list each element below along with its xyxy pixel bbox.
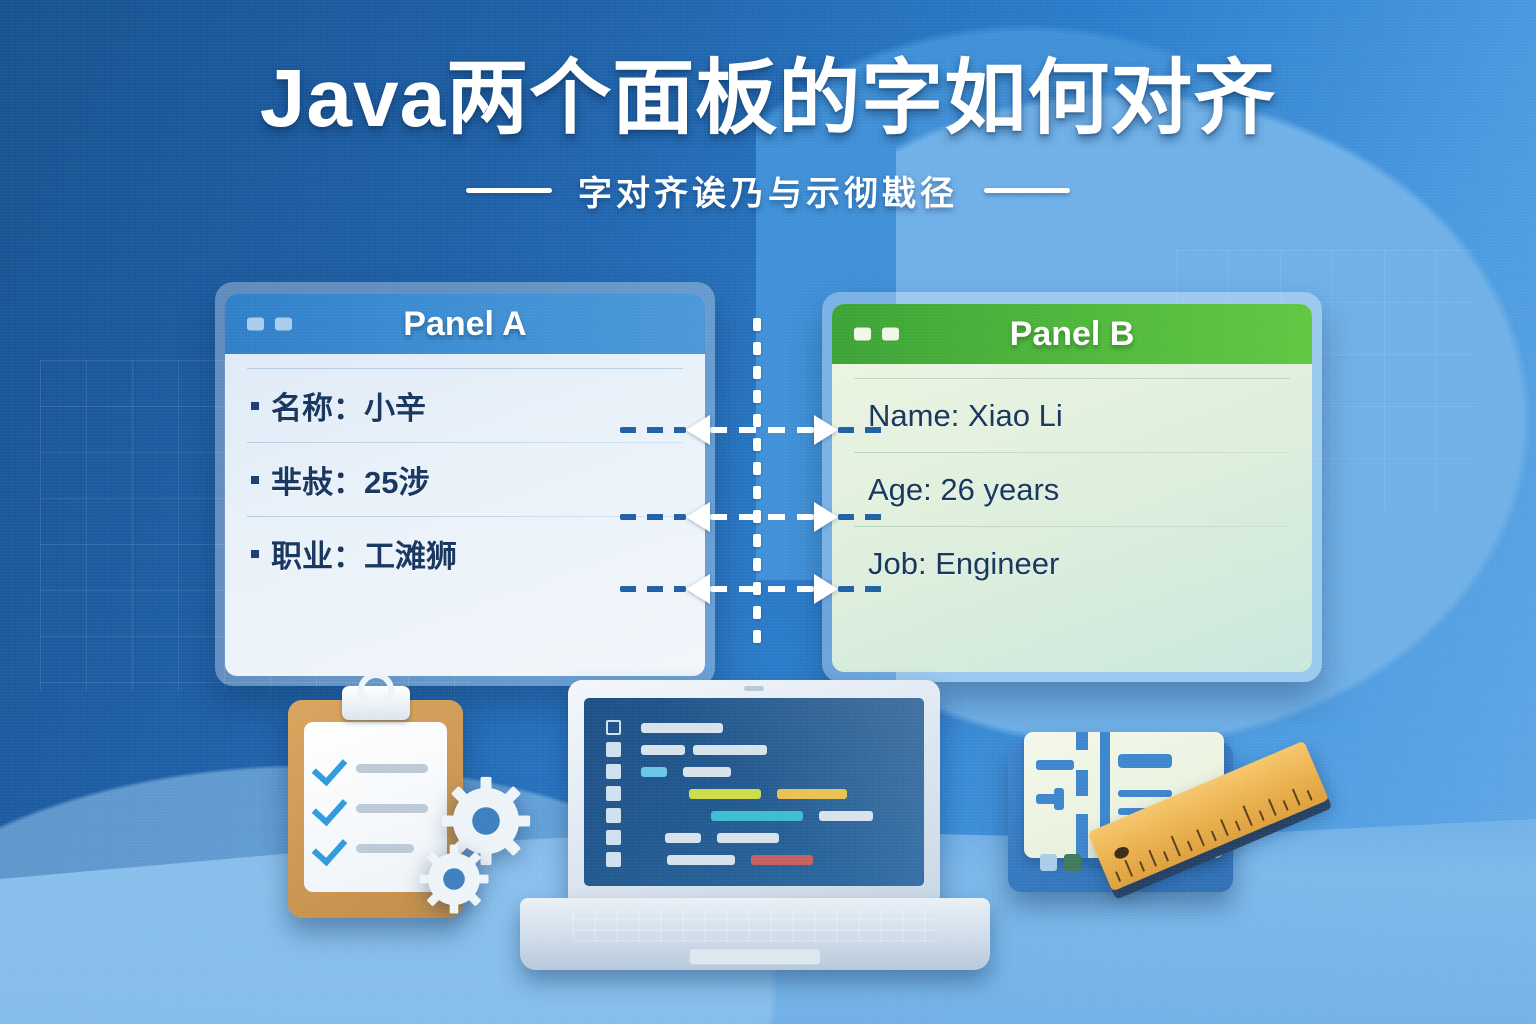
connector-1-dash-left <box>620 427 686 433</box>
header: Java两个面板的字如何对齐 字对齐诶乃与示彻戡径 <box>0 58 1536 215</box>
code-bar <box>683 767 731 777</box>
code-line-6 <box>606 830 779 845</box>
alignment-connector-2 <box>620 504 905 530</box>
connector-3-dash-right <box>838 586 888 592</box>
layout-line-d <box>1118 754 1172 768</box>
window-dot-1-icon <box>854 328 871 341</box>
connector-3-dash-left <box>620 586 686 592</box>
panel-a-title: Panel A <box>225 305 705 344</box>
code-bar <box>665 833 701 843</box>
panel-a-row-2-text: 芈敊：25涉 <box>271 457 429 502</box>
connector-2-arrow-right-icon <box>814 502 838 532</box>
laptop-lid <box>568 680 940 900</box>
code-bar <box>689 789 761 799</box>
code-bullet-icon <box>606 786 621 801</box>
clipboard-line-2 <box>356 804 428 813</box>
code-bar <box>641 767 667 777</box>
clipboard-line-1 <box>356 764 428 773</box>
window-dot-1-icon <box>247 318 264 331</box>
window-dots-icon <box>247 318 292 331</box>
code-bullet-icon <box>606 830 621 845</box>
panel-a-row-1-text: 名称：小辛 <box>271 383 426 428</box>
code-bar <box>667 855 735 865</box>
layout-line-a <box>1036 760 1074 770</box>
clipboard-item-2 <box>314 798 428 818</box>
connector-2-dash-center <box>710 514 814 520</box>
window-dot-2-icon <box>275 318 292 331</box>
gear-small-icon <box>418 843 490 915</box>
code-line-3 <box>606 764 731 779</box>
page-subtitle: 字对齐诶乃与示彻戡径 <box>578 166 958 215</box>
bullet-icon <box>251 550 259 558</box>
code-bar <box>693 745 767 755</box>
bullet-icon <box>251 402 259 410</box>
connector-1-arrow-right-icon <box>814 415 838 445</box>
alignment-connector-1 <box>620 417 905 443</box>
panel-b-titlebar: Panel B <box>832 304 1312 364</box>
layout-cut-a <box>1076 732 1088 750</box>
connector-1-dash-right <box>838 427 888 433</box>
connector-3-arrow-left-icon <box>686 574 710 604</box>
panel-b-inner: Panel B Name: Xiao Li Age: 26 years Job:… <box>832 304 1312 672</box>
code-bullet-icon <box>606 742 621 757</box>
code-bar <box>751 855 813 865</box>
code-bullet-icon <box>606 852 621 867</box>
panel-b-row-2-text: Age: 26 years <box>868 472 1059 508</box>
connector-2-dash-right <box>838 514 888 520</box>
window-dot-2-icon <box>882 328 899 341</box>
clipboard-ring-icon <box>358 672 394 708</box>
code-line-5 <box>606 808 873 823</box>
code-line-7 <box>606 852 813 867</box>
layout-cut-c <box>1076 814 1088 858</box>
laptop-screen <box>584 698 924 886</box>
clipboard-item-3 <box>314 838 414 858</box>
layout-chip-1 <box>1040 854 1057 871</box>
subtitle-row: 字对齐诶乃与示彻戡径 <box>0 166 1536 215</box>
laptop-keyboard <box>572 908 938 942</box>
code-bullet-icon <box>606 808 621 823</box>
code-bar <box>711 811 803 821</box>
clipboard-line-3 <box>356 844 414 853</box>
layout-line-c <box>1054 788 1064 810</box>
layout-line-e <box>1118 790 1172 797</box>
subtitle-rule-right <box>984 188 1070 193</box>
code-line-4 <box>606 786 847 801</box>
laptop-with-code <box>520 680 990 970</box>
code-line-1 <box>606 720 723 735</box>
connector-3-dash-center <box>710 586 814 592</box>
code-bar <box>717 833 779 843</box>
code-bullet-icon <box>606 720 621 735</box>
code-bullet-icon <box>606 764 621 779</box>
code-line-2 <box>606 742 767 757</box>
connector-2-arrow-left-icon <box>686 502 710 532</box>
panel-a[interactable]: Panel A 名称：小辛 芈敊：25涉 职业：工滩狮 <box>215 282 715 686</box>
clipboard-item-1 <box>314 758 428 778</box>
connector-1-arrow-left-icon <box>686 415 710 445</box>
alignment-connector-3 <box>620 576 905 602</box>
panel-a-row-3-text: 职业：工滩狮 <box>271 531 457 576</box>
poster-canvas: Java两个面板的字如何对齐 字对齐诶乃与示彻戡径 Panel A 名称：小辛 <box>0 0 1536 1024</box>
layout-cut-b <box>1076 770 1088 796</box>
panel-a-inner: Panel A 名称：小辛 芈敊：25涉 职业：工滩狮 <box>225 294 705 676</box>
layout-chip-2 <box>1064 854 1081 871</box>
code-bar <box>641 723 723 733</box>
connector-2-dash-left <box>620 514 686 520</box>
laptop-camera-icon <box>744 686 764 691</box>
subtitle-rule-left <box>466 188 552 193</box>
page-title: Java两个面板的字如何对齐 <box>0 58 1536 140</box>
code-bar <box>777 789 847 799</box>
panel-b-title: Panel B <box>832 315 1312 354</box>
laptop-base <box>520 898 990 970</box>
bullet-icon <box>251 476 259 484</box>
window-dots-icon <box>854 328 899 341</box>
alignment-divider-icon <box>753 318 761 660</box>
panel-a-titlebar: Panel A <box>225 294 705 354</box>
connector-3-arrow-right-icon <box>814 574 838 604</box>
panel-b[interactable]: Panel B Name: Xiao Li Age: 26 years Job:… <box>822 292 1322 682</box>
code-bar <box>819 811 873 821</box>
code-bar <box>641 745 685 755</box>
connector-1-dash-center <box>710 427 814 433</box>
laptop-trackpad <box>689 948 821 965</box>
